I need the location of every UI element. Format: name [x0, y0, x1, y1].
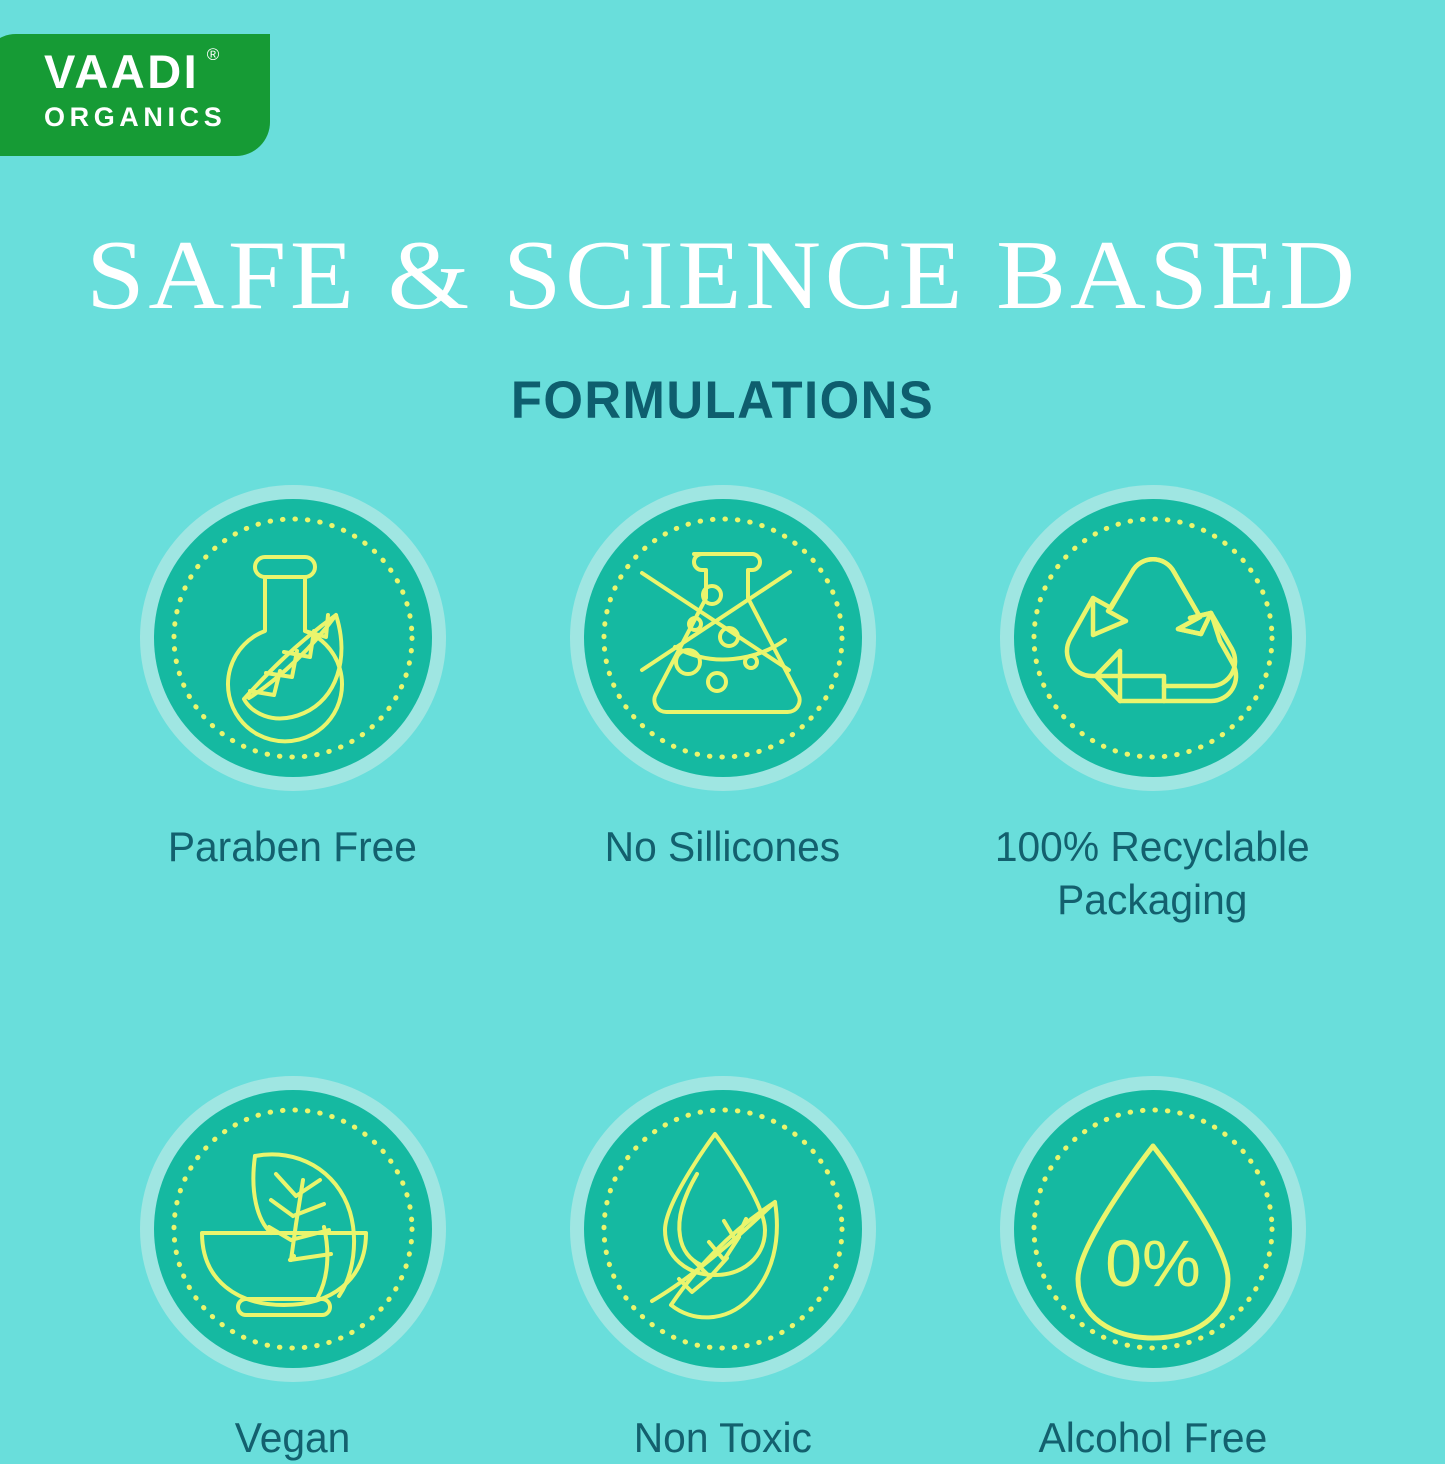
badge-disc: 0%	[1014, 1090, 1292, 1368]
brand-logo[interactable]: VAADI ® ORGANICS	[0, 34, 270, 156]
badge-disc	[1014, 499, 1292, 777]
recycle-icon	[1014, 499, 1292, 777]
feature-label-line-2: Packaging	[1057, 876, 1247, 923]
flask-leaf-icon	[154, 499, 432, 777]
page-subtitle: FORMULATIONS	[29, 374, 1416, 427]
registered-trademark-icon: ®	[207, 46, 220, 63]
feature-grid: Paraben Free	[0, 478, 1445, 1464]
badge-paraben-free	[133, 478, 453, 798]
badge-alcohol-free: 0%	[993, 1069, 1313, 1389]
droplet-zero-percent-icon: 0%	[1014, 1090, 1292, 1368]
feature-row-2: Vegan	[0, 1069, 1445, 1464]
erlenmeyer-crossed-out-icon	[584, 499, 862, 777]
bowl-leaf-icon	[154, 1090, 432, 1368]
droplet-leaf-icon	[584, 1090, 862, 1368]
badge-disc	[584, 1090, 862, 1368]
feature-item-alcohol-free[interactable]: 0% Alcohol Free	[938, 1069, 1368, 1464]
feature-item-recyclable-packaging[interactable]: 100% Recyclable Packaging	[938, 478, 1368, 927]
badge-disc	[584, 499, 862, 777]
feature-item-no-sillicones[interactable]: No Sillicones	[508, 478, 938, 873]
badge-disc	[154, 499, 432, 777]
brand-tagline: ORGANICS	[44, 104, 270, 131]
feature-item-non-toxic[interactable]: Non Toxic	[508, 1069, 938, 1464]
feature-item-paraben-free[interactable]: Paraben Free	[78, 478, 508, 873]
feature-label-line-1: 100% Recyclable	[995, 823, 1310, 870]
feature-row-1: Paraben Free	[0, 478, 1445, 927]
badge-vegan	[133, 1069, 453, 1389]
badge-disc	[154, 1090, 432, 1368]
brand-name: VAADI	[44, 45, 199, 98]
feature-label: No Sillicones	[605, 820, 840, 873]
feature-label: Vegan	[235, 1411, 351, 1464]
page-title: SAFE & SCIENCE BASED	[0, 226, 1445, 325]
feature-label: Alcohol Free	[1038, 1411, 1267, 1464]
feature-item-vegan[interactable]: Vegan	[78, 1069, 508, 1464]
brand-wordmark: VAADI ®	[44, 48, 199, 95]
badge-no-sillicones	[563, 478, 883, 798]
icon-text-zero-percent: 0%	[1105, 1226, 1200, 1300]
feature-label: Paraben Free	[168, 820, 417, 873]
feature-label: 100% Recyclable Packaging	[995, 820, 1310, 927]
badge-recyclable-packaging	[993, 478, 1313, 798]
badge-non-toxic	[563, 1069, 883, 1389]
feature-label: Non Toxic	[633, 1411, 811, 1464]
